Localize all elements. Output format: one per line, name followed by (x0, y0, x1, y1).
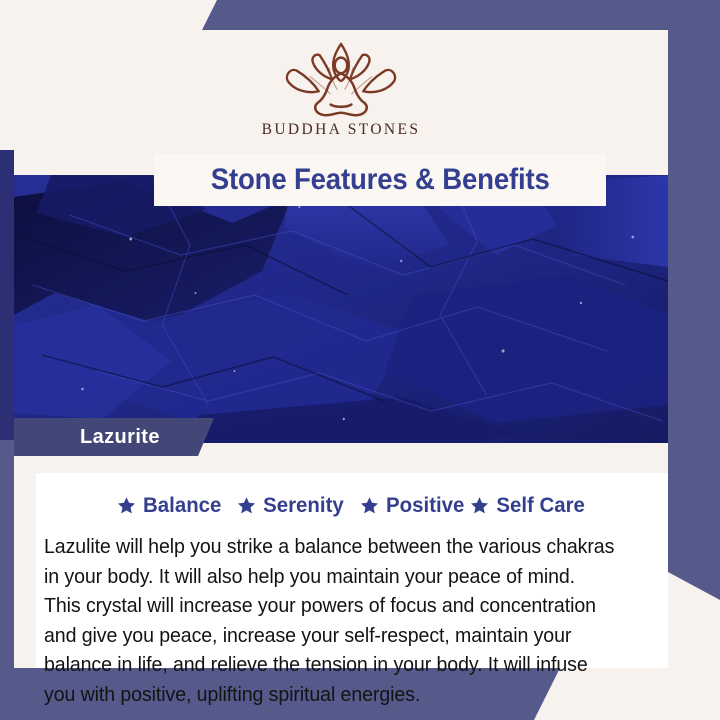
stone-name: Lazurite (14, 426, 160, 449)
benefit-label: Positive (386, 493, 464, 518)
brand-wordmark: BUDDHA STONES (262, 121, 421, 139)
benefit-item-serenity: Serenity (237, 493, 346, 518)
decor-right-band (668, 0, 720, 600)
star-icon (360, 496, 379, 515)
star-icon (117, 496, 136, 515)
lotus-meditation-icon (267, 38, 415, 120)
poster-card: BUDDHA STONES Stone Features & Benefits (14, 30, 668, 668)
benefit-item-self-care: Self Care (470, 493, 587, 518)
benefit-label: Self Care (496, 493, 585, 518)
benefit-item-positive: Positive (360, 493, 466, 518)
star-icon (470, 496, 489, 515)
panel-top-divider (36, 459, 668, 473)
stone-name-banner: Lazurite (14, 418, 214, 456)
benefit-item-balance: Balance (117, 493, 223, 518)
star-icon (237, 496, 256, 515)
stone-description: Lazulite will help you strike a balance … (44, 533, 616, 710)
description-panel: Balance Serenity Positive (36, 459, 668, 668)
title-plate: Stone Features & Benefits (154, 154, 606, 206)
benefit-label: Balance (143, 493, 221, 518)
page-title: Stone Features & Benefits (211, 163, 550, 197)
stone-benefits-poster: BUDDHA STONES Stone Features & Benefits (0, 0, 720, 720)
benefits-row: Balance Serenity Positive (36, 493, 668, 518)
benefit-label: Serenity (264, 493, 345, 518)
lazurite-stone-photo (14, 175, 668, 443)
